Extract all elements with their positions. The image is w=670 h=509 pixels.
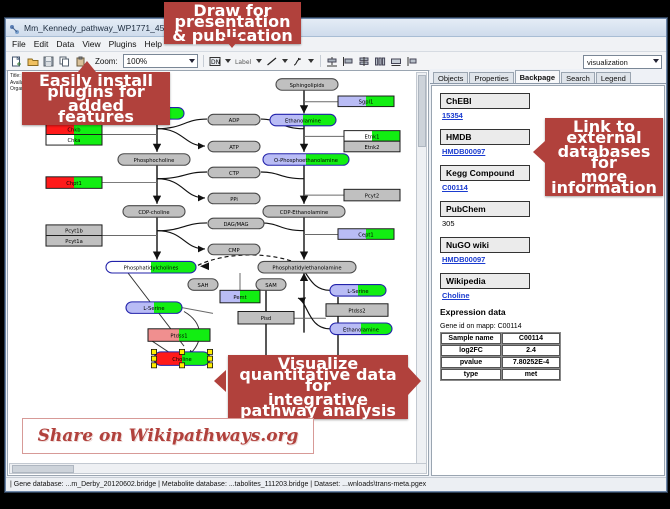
node-label: Pisd <box>261 316 271 322</box>
node-label: Ptdss2 <box>348 309 365 315</box>
table-row: Sample name C00114 <box>441 333 560 344</box>
metabolite-node[interactable]: CMP <box>208 244 260 255</box>
status-bar: | Gene database: ...m_Derby_20120602.bri… <box>6 477 666 491</box>
menu-bar: File Edit Data View Plugins Help <box>6 37 666 52</box>
node-label: DAG/MAG <box>223 222 248 228</box>
callout-draw-pointer <box>223 37 241 48</box>
node-label: CMP <box>228 248 239 254</box>
table-row: log2FC 2.4 <box>441 345 560 356</box>
metabolite-node[interactable]: ADP <box>208 114 260 125</box>
node-label: CTP <box>229 171 239 177</box>
open-folder-icon[interactable] <box>26 55 39 68</box>
node-label: ATP <box>229 145 238 151</box>
metabolite-node[interactable]: L-Serine <box>126 302 182 314</box>
callout-links-pointer <box>533 141 545 163</box>
pathvisio-app-icon <box>9 22 20 33</box>
row-value: 7.80252E-4 <box>502 357 560 368</box>
gene-node[interactable]: Pisd <box>238 311 294 324</box>
label-tool[interactable]: Label <box>235 55 253 68</box>
metabolite-node[interactable]: Phosphatidylcholines <box>106 261 196 273</box>
share-banner: Share on Wikipathways.org <box>22 418 314 454</box>
callout-visualize-line1: Visualize quantitative data for <box>228 355 408 394</box>
section-title-nugowiki: NuGO wiki <box>440 237 530 253</box>
scroll-thumb[interactable] <box>418 75 426 147</box>
node-label: Etnk2 <box>365 145 380 151</box>
gene-node[interactable]: Pcyt1b <box>46 225 102 236</box>
row-key: Sample name <box>441 333 501 344</box>
menu-item-data[interactable]: Data <box>56 39 74 49</box>
stack-icon[interactable] <box>358 55 371 68</box>
scroll-thumb[interactable] <box>12 465 74 473</box>
metabolite-node[interactable]: ATP <box>208 141 260 152</box>
node-label: L-Serine <box>143 306 164 312</box>
row-key: pvalue <box>441 357 501 368</box>
metabolite-node[interactable]: SAM <box>256 279 286 291</box>
gene-node[interactable]: Pcyt1a <box>46 235 102 246</box>
selection-handle[interactable] <box>151 356 156 361</box>
metabolite-node[interactable]: Choline <box>151 349 212 367</box>
gene-node[interactable]: Pemt <box>220 290 260 303</box>
metabolite-node[interactable]: L-Serine <box>330 285 386 297</box>
table-row: type met <box>441 369 560 380</box>
chevron-down-icon <box>189 59 195 63</box>
row-value: 2.4 <box>502 345 560 356</box>
node-label: Etnk1 <box>365 134 380 140</box>
selection-handle[interactable] <box>207 363 212 368</box>
selection-handle[interactable] <box>179 363 184 368</box>
svg-text:Label: Label <box>235 59 252 66</box>
tab-properties[interactable]: Properties <box>469 72 513 83</box>
menu-item-plugins[interactable]: Plugins <box>109 39 137 49</box>
order-icon[interactable] <box>406 55 419 68</box>
row-key: log2FC <box>441 345 501 356</box>
menu-item-edit[interactable]: Edit <box>34 39 49 49</box>
node-label: Ethanolamine <box>285 119 321 125</box>
metabolite-node[interactable]: DAG/MAG <box>208 218 264 229</box>
tab-search[interactable]: Search <box>561 72 595 83</box>
interaction-dropdown-icon[interactable] <box>308 56 315 67</box>
selection-handle[interactable] <box>151 363 156 368</box>
selection-handle[interactable] <box>179 349 184 354</box>
row-key: type <box>441 369 501 380</box>
node-label: O-Phosphoethanolamine <box>274 158 338 164</box>
new-file-icon[interactable] <box>10 55 23 68</box>
group-icon[interactable] <box>390 55 403 68</box>
share-banner-text: Share on Wikipathways.org <box>38 426 299 446</box>
node-label: Pcyt1a <box>65 239 83 245</box>
line-tool-icon[interactable] <box>266 55 279 68</box>
node-label: Sphingolipids <box>290 83 325 89</box>
gene-id-on-mapp: Gene id on mapp: C00114 <box>440 323 664 330</box>
label-dropdown-icon[interactable] <box>256 56 263 67</box>
metabolite-node[interactable]: SAH <box>188 279 218 291</box>
wikipedia-link[interactable]: Choline <box>442 291 664 300</box>
save-icon[interactable] <box>42 55 55 68</box>
callout-visualize-pointer-left <box>214 370 226 392</box>
metabolite-node[interactable]: Ethanolamine <box>270 114 336 126</box>
toolbar-separator <box>320 55 321 67</box>
menu-item-view[interactable]: View <box>82 39 100 49</box>
tab-backpage[interactable]: Backpage <box>515 70 560 83</box>
canvas-horizontal-scrollbar[interactable] <box>9 463 427 474</box>
section-title-kegg: Kegg Compound <box>440 165 530 181</box>
node-label: Pcyt2 <box>365 194 379 200</box>
node-label: Phosphatidylethanolamine <box>272 266 341 272</box>
selection-handle[interactable] <box>207 349 212 354</box>
gene-node[interactable]: Etnk1 <box>344 131 400 142</box>
node-label: Choline <box>172 357 191 363</box>
table-row: pvalue 7.80252E-4 <box>441 357 560 368</box>
callout-links-line3: more information <box>545 171 663 196</box>
side-panel-tabs: Objects Properties Backpage Search Legen… <box>430 69 666 84</box>
metabolite-node[interactable]: Ethanolamine <box>330 323 392 335</box>
node-label: Cept1 <box>358 233 373 239</box>
node-label: SAM <box>265 283 276 289</box>
tab-legend[interactable]: Legend <box>596 72 631 83</box>
menu-item-help[interactable]: Help <box>145 39 162 49</box>
chevron-down-icon <box>653 59 659 63</box>
metabolite-node[interactable]: Sphingolipids <box>276 79 338 91</box>
node-label: Ptdss1 <box>170 334 187 340</box>
node-label: Chka <box>67 138 80 144</box>
pubchem-value: 305 <box>442 219 664 228</box>
gene-node[interactable]: Pcyt2 <box>344 189 400 201</box>
metabolite-node[interactable]: CTP <box>208 167 260 178</box>
title-bar: Mm_Kennedy_pathway_WP1771_45176.gpml <box>6 19 666 37</box>
tab-objects[interactable]: Objects <box>433 72 468 83</box>
gene-node[interactable]: Etnk2 <box>344 141 400 152</box>
callout-links: Link to external databases for more info… <box>545 118 663 196</box>
nugowiki-link[interactable]: HMDB00097 <box>442 255 664 264</box>
toolbar-separator <box>203 55 204 67</box>
node-label: Pcyt1b <box>65 229 83 235</box>
callout-visualize-pointer-right <box>408 367 421 395</box>
datanode-tool-icon[interactable]: DN <box>209 55 222 68</box>
gene-node[interactable]: Chpt1 <box>46 177 102 189</box>
svg-text:DN: DN <box>211 59 220 66</box>
metabolite-node[interactable]: CDP-Ethanolamine <box>263 206 345 218</box>
visualization-combo[interactable]: visualization <box>583 55 662 69</box>
node-label: Phosphocholine <box>134 158 175 164</box>
callout-plugins-line2: added features <box>22 100 170 125</box>
node-label: PPi <box>230 197 238 203</box>
row-value: met <box>502 369 560 380</box>
callout-visualize: Visualize quantitative data for integrat… <box>228 355 408 419</box>
zoom-value: 100% <box>127 57 147 66</box>
node-label: Phosphatidylcholines <box>124 266 179 272</box>
screenshot-root: Mm_Kennedy_pathway_WP1771_45176.gpml Fil… <box>0 0 670 509</box>
callout-plugins: Easily install plugins for added feature… <box>22 72 170 125</box>
metabolite-node[interactable]: Phosphocholine <box>118 154 190 166</box>
metabolite-node[interactable]: CDP-choline <box>123 206 185 218</box>
section-title-pubchem: PubChem <box>440 201 530 217</box>
align-center-icon[interactable] <box>326 55 339 68</box>
align-left-icon[interactable] <box>342 55 355 68</box>
node-label: ADP <box>229 118 240 124</box>
zoom-combo[interactable]: 100% <box>123 54 198 68</box>
line-dropdown-icon[interactable] <box>282 56 289 67</box>
section-title-hmdb: HMDB <box>440 129 530 145</box>
node-label: Chkb <box>67 128 80 134</box>
canvas-vertical-scrollbar[interactable] <box>416 72 427 464</box>
menu-item-file[interactable]: File <box>12 39 26 49</box>
row-value: C00114 <box>502 333 560 344</box>
datanode-dropdown-icon[interactable] <box>225 56 232 67</box>
expression-data-heading: Expression data <box>440 307 664 317</box>
callout-plugins-pointer <box>78 61 96 72</box>
callout-visualize-line2: integrative pathway analysis <box>228 394 408 419</box>
node-label: Ethanolamine <box>343 327 379 333</box>
selection-handle[interactable] <box>151 349 156 354</box>
gene-node[interactable]: Sgpl1 <box>338 96 394 107</box>
distribute-icon[interactable] <box>374 55 387 68</box>
gene-node[interactable]: Ptdss2 <box>326 304 388 317</box>
node-label: SAH <box>198 283 209 289</box>
gene-node[interactable]: Chka <box>46 134 102 145</box>
node-label: Sgpl1 <box>359 100 374 106</box>
gene-node[interactable]: Cept1 <box>338 229 394 240</box>
zoom-label: Zoom: <box>95 57 118 66</box>
metabolite-node[interactable]: O-Phosphoethanolamine <box>263 154 349 166</box>
metabolite-node[interactable]: PPi <box>208 193 260 204</box>
gene-node[interactable]: Ptdss1 <box>148 329 210 342</box>
node-label: CDP-Ethanolamine <box>280 210 328 216</box>
status-text: | Gene database: ...m_Derby_20120602.bri… <box>10 481 426 488</box>
node-label: L-Serine <box>347 289 368 295</box>
expression-table: Sample name C00114 log2FC 2.4 pvalue 7.8… <box>440 332 561 381</box>
visualization-value: visualization <box>587 58 628 67</box>
copy-icon[interactable] <box>58 55 71 68</box>
metabolite-node[interactable]: Phosphatidylethanolamine <box>258 261 356 273</box>
interaction-tool-icon[interactable] <box>292 55 305 68</box>
node-label: Chpt1 <box>66 181 82 187</box>
selection-handle[interactable] <box>207 356 212 361</box>
section-title-chebi: ChEBI <box>440 93 530 109</box>
node-label: CDP-choline <box>138 210 169 216</box>
node-label: Pemt <box>233 295 246 301</box>
section-title-wikipedia: Wikipedia <box>440 273 530 289</box>
